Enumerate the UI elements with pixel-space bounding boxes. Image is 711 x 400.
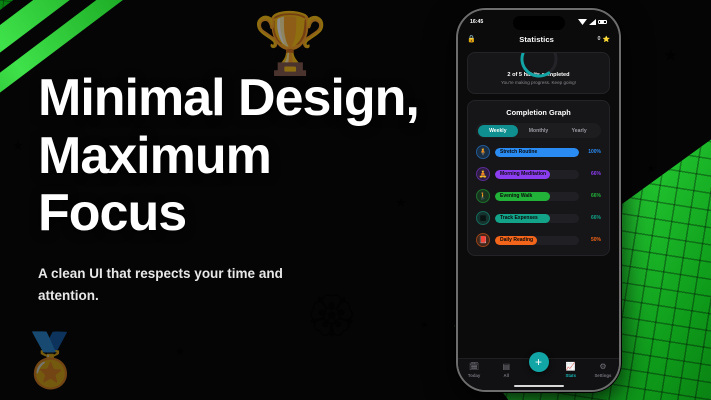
- period-segmented-control[interactable]: Weekly Monthly Yearly: [476, 123, 601, 138]
- summary-card: 2 of 5 habits completed You're making pr…: [467, 52, 610, 94]
- home-indicator: [514, 385, 564, 387]
- dynamic-island: [513, 16, 565, 30]
- graph-title: Completion Graph: [476, 108, 601, 117]
- habit-bar-track: Evening Walk: [495, 192, 579, 201]
- streak-count: 0: [598, 36, 601, 42]
- phone-mockup: 16:45 🔒 Statistics 0 ⭐: [456, 8, 621, 392]
- habit-row[interactable]: ▦Track Expenses66%: [476, 211, 601, 225]
- wifi-icon: [589, 19, 596, 25]
- tab-weekly[interactable]: Weekly: [478, 125, 519, 137]
- habit-percent: 50%: [584, 237, 601, 243]
- habit-bar-fill: Morning Meditation: [495, 170, 550, 179]
- tab-stats[interactable]: 📈 Stats: [555, 363, 587, 378]
- habit-name: Morning Meditation: [495, 171, 546, 177]
- habit-bar-fill: Track Expenses: [495, 214, 550, 223]
- habit-bar-track: Track Expenses: [495, 214, 579, 223]
- screen-content: 2 of 5 habits completed You're making pr…: [458, 48, 619, 358]
- completion-graph-card: Completion Graph Weekly Monthly Yearly 🧍…: [467, 100, 610, 256]
- tab-today[interactable]: 🗓 Today: [458, 363, 490, 378]
- subtitle: A clean UI that respects your time and a…: [38, 263, 318, 306]
- stretch-icon: 🧍: [476, 145, 490, 159]
- walk-icon: 🚶: [476, 189, 490, 203]
- habit-name: Evening Walk: [495, 193, 532, 199]
- calculator-icon: ▦: [476, 211, 490, 225]
- habit-percent: 66%: [584, 171, 601, 177]
- status-indicators: [578, 19, 607, 25]
- habit-percent: 66%: [584, 215, 601, 221]
- bottom-tab-bar[interactable]: 🗓 Today ▤ All 📈 Stats ⚙ Settings +: [458, 358, 619, 390]
- habit-row[interactable]: 📕Daily Reading50%: [476, 233, 601, 247]
- promo-copy: Minimal Design, Maximum Focus A clean UI…: [38, 70, 438, 306]
- gear-icon: ⚙: [599, 363, 606, 371]
- star-icon: ⭐: [603, 36, 610, 43]
- habit-name: Track Expenses: [495, 215, 538, 221]
- progress-ring: [517, 52, 561, 86]
- star-icon-4: ★: [175, 345, 185, 358]
- headline-line-1: Minimal Design,: [38, 70, 438, 128]
- add-habit-fab[interactable]: +: [529, 352, 549, 372]
- page-title: Statistics: [519, 35, 554, 44]
- habit-percent: 100%: [584, 149, 601, 155]
- tab-today-label: Today: [468, 373, 480, 378]
- habit-bar-track: Morning Meditation: [495, 170, 579, 179]
- list-icon: ▤: [503, 363, 511, 371]
- calendar-icon: 🗓: [469, 363, 479, 371]
- habit-bar-fill: Daily Reading: [495, 236, 537, 245]
- habit-row[interactable]: 🚶Evening Walk66%: [476, 189, 601, 203]
- signal-icon: [578, 19, 587, 25]
- lock-icon[interactable]: 🔒: [467, 35, 476, 43]
- habit-name: Daily Reading: [495, 237, 533, 243]
- tab-all-label: All: [504, 373, 510, 378]
- tab-all[interactable]: ▤ All: [490, 363, 522, 378]
- habit-name: Stretch Routine: [495, 149, 537, 155]
- habit-bar-fill: Evening Walk: [495, 192, 550, 201]
- tab-settings[interactable]: ⚙ Settings: [587, 363, 619, 378]
- habit-row[interactable]: 🧍Stretch Routine100%: [476, 145, 601, 159]
- star-icon-2: ★: [12, 138, 24, 154]
- headline: Minimal Design, Maximum Focus: [38, 70, 438, 243]
- headline-line-3: Focus: [38, 185, 438, 243]
- habit-bar-track: Daily Reading: [495, 236, 579, 245]
- battery-icon: [598, 20, 607, 25]
- app-bar: 🔒 Statistics 0 ⭐: [458, 30, 619, 48]
- habit-bar-fill: Stretch Routine: [495, 148, 579, 157]
- star-icon-5: ★: [420, 320, 429, 331]
- habit-percent: 66%: [584, 193, 601, 199]
- headline-line-2: Maximum: [38, 128, 438, 186]
- status-time: 16:45: [470, 19, 483, 25]
- streak-badge: 0 ⭐: [598, 36, 610, 43]
- star-icon-6: ★: [646, 162, 656, 175]
- tab-settings-label: Settings: [594, 373, 611, 378]
- tab-stats-label: Stats: [565, 373, 576, 378]
- medal-icon: 🏅: [18, 330, 83, 391]
- habit-row[interactable]: 🧘Morning Meditation66%: [476, 167, 601, 181]
- book-icon: 📕: [476, 233, 490, 247]
- habit-bar-track: Stretch Routine: [495, 148, 579, 157]
- star-icon-1: ★: [663, 46, 678, 66]
- tab-monthly[interactable]: Monthly: [518, 125, 559, 137]
- habit-bar-list: 🧍Stretch Routine100%🧘Morning Meditation6…: [476, 145, 601, 247]
- phone-screen: 16:45 🔒 Statistics 0 ⭐: [458, 10, 619, 390]
- tab-yearly[interactable]: Yearly: [559, 125, 600, 137]
- chart-icon: 📈: [566, 363, 576, 371]
- promo-banner: 🏆 🏅 🏵 ★ ★ ★ ★ ★ ★ ★ Minimal Design, Maxi…: [0, 0, 711, 400]
- meditation-icon: 🧘: [476, 167, 490, 181]
- decor-green-stripe-4: [650, 368, 711, 400]
